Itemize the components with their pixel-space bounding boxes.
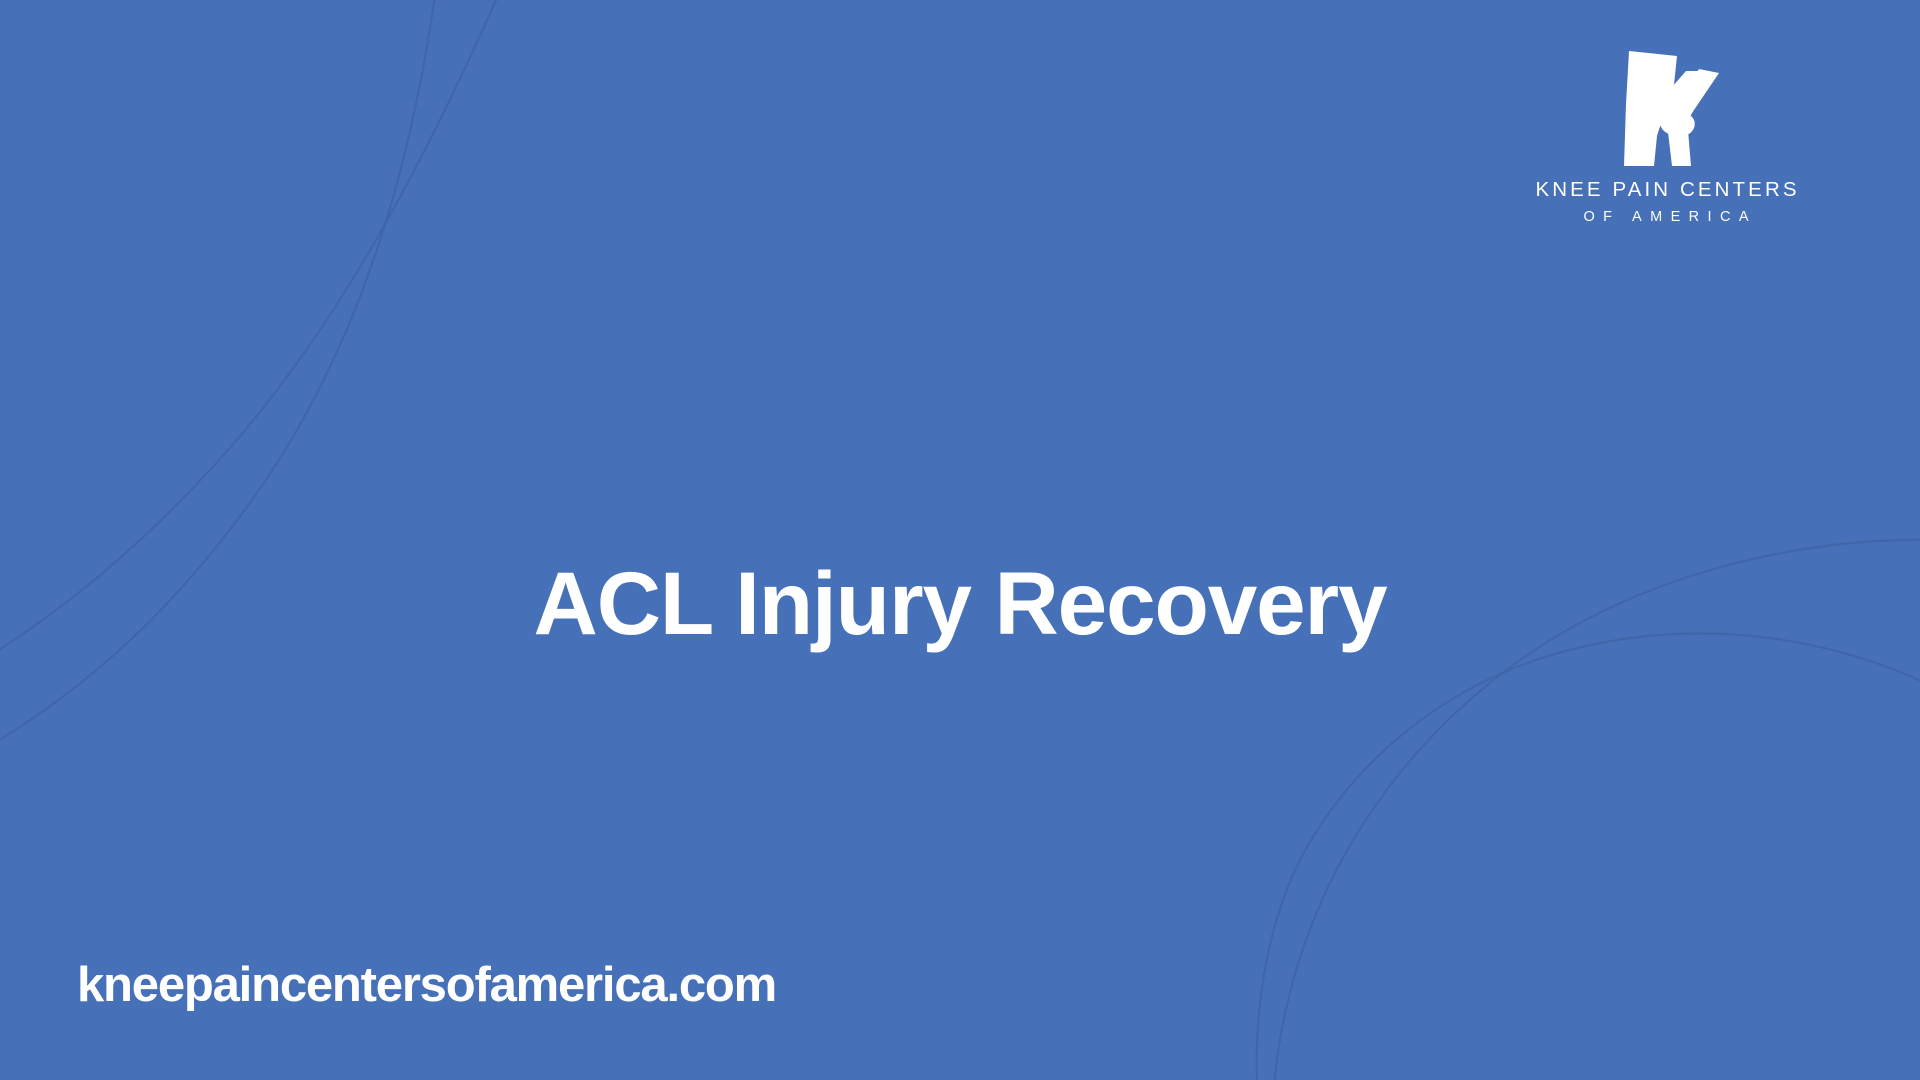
logo-primary-wordmark: KNEE PAIN CENTERS (1532, 180, 1799, 201)
slide-canvas: KNEE PAIN CENTERS OF AMERICA ACL Injury … (0, 0, 1920, 1080)
knee-joint-k-mark-icon (1602, 44, 1730, 166)
website-url[interactable]: kneepaincentersofamerica.com (77, 961, 776, 1010)
bottom-right-arc-outer (1257, 634, 1920, 1080)
logo-secondary-wordmark: OF AMERICA (1575, 210, 1757, 225)
logo-lockup[interactable]: KNEE PAIN CENTERS OF AMERICA (1492, 44, 1840, 224)
slide-title: ACL Injury Recovery (0, 559, 1920, 648)
